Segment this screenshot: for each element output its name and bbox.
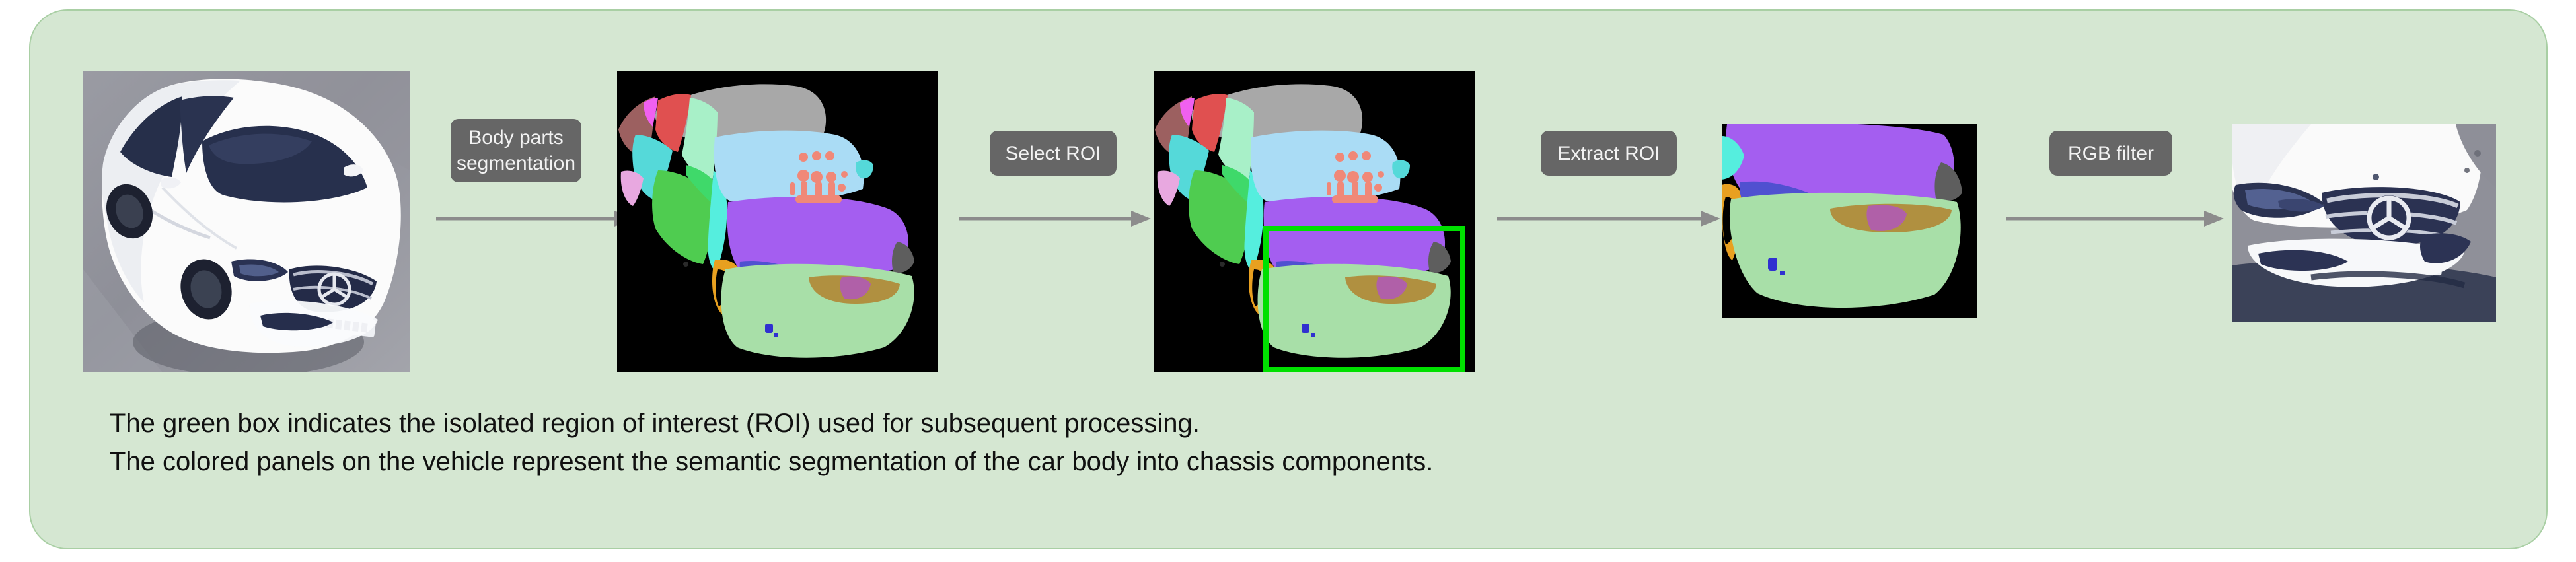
rgb-filter-canvas	[2232, 124, 2496, 322]
processing-pipeline: Body parts segmentation	[30, 11, 2546, 380]
arrow-2	[959, 210, 1151, 227]
arrow-4	[2006, 210, 2224, 227]
figure-container: Body parts segmentation	[29, 9, 2548, 549]
segmentation-with-roi-box[interactable]	[1154, 71, 1475, 372]
arrow-3	[1497, 210, 1720, 227]
extracted-roi-segmentation[interactable]	[1722, 124, 1977, 318]
arrow-1	[436, 210, 634, 227]
rgb-filtered-front-end[interactable]	[2232, 124, 2496, 322]
segmentation-canvas	[617, 71, 938, 372]
step-label-extract-roi[interactable]: Extract ROI	[1541, 131, 1677, 176]
caption-line-2: The colored panels on the vehicle repres…	[110, 442, 2488, 481]
body-parts-segmentation-map[interactable]	[617, 71, 938, 372]
photo-vehicle-source	[83, 71, 410, 372]
roi-selection-canvas	[1154, 71, 1475, 372]
caption-line-1: The green box indicates the isolated reg…	[110, 404, 2488, 442]
step-label-rgb-filter[interactable]: RGB filter	[2049, 131, 2172, 176]
extracted-roi-canvas	[1722, 124, 1977, 318]
step-label-body-parts-segmentation[interactable]: Body parts segmentation	[451, 119, 581, 182]
step-label-select-roi[interactable]: Select ROI	[990, 131, 1117, 176]
original-vehicle-photo[interactable]	[83, 71, 410, 372]
figure-caption: The green box indicates the isolated reg…	[110, 404, 2488, 481]
